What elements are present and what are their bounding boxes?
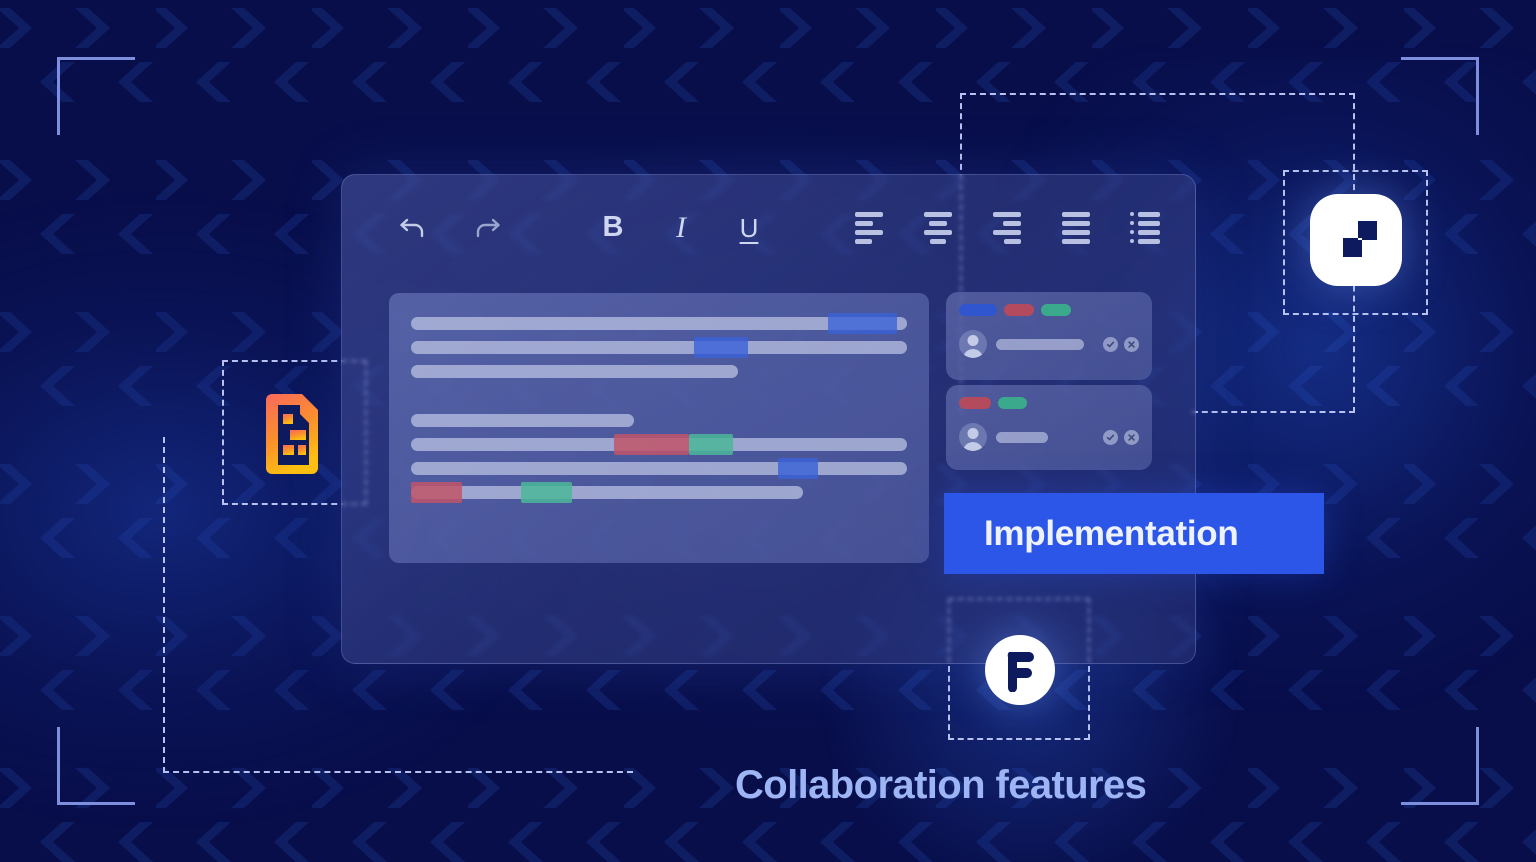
undo-icon[interactable] (390, 205, 436, 251)
toolbar-format-group: B I U (590, 205, 772, 251)
corner-bracket-bottom-left (57, 727, 135, 805)
text-highlight-green (521, 482, 572, 503)
italic-label: I (676, 213, 686, 243)
document-text-line (411, 341, 907, 354)
comment-tag-row (959, 397, 1139, 409)
document-page[interactable] (389, 293, 929, 563)
italic-icon[interactable]: I (658, 205, 704, 251)
document-text-line (411, 486, 803, 499)
comment-card[interactable] (946, 292, 1152, 380)
dismiss-comment-icon[interactable] (1124, 430, 1139, 445)
comment-tag-green (1041, 304, 1071, 316)
dismiss-comment-icon[interactable] (1124, 337, 1139, 352)
redo-icon[interactable] (464, 205, 510, 251)
underline-icon[interactable]: U (726, 205, 772, 251)
avatar (959, 330, 987, 358)
toolbar-align-group (846, 205, 1168, 251)
text-highlight-red (411, 482, 462, 503)
logo-circle-f (985, 635, 1055, 705)
align-left-icon[interactable] (846, 205, 892, 251)
document-text-line (411, 414, 634, 427)
comment-tag-red (1004, 304, 1034, 316)
document-text-line (411, 438, 907, 451)
align-right-icon[interactable] (984, 205, 1030, 251)
comment-text-placeholder (996, 432, 1048, 443)
corner-bracket-bottom-right (1401, 727, 1479, 805)
text-highlight-red (614, 434, 688, 455)
comment-text-placeholder (996, 339, 1084, 350)
comment-actions (1103, 337, 1139, 352)
status-badge: Implementation (944, 493, 1324, 574)
editor-toolbar: B I U (342, 175, 1195, 280)
avatar (959, 423, 987, 451)
document-text-line (411, 365, 738, 378)
comment-tag-row (959, 304, 1139, 316)
comment-card[interactable] (946, 385, 1152, 470)
text-highlight-blue (828, 313, 897, 334)
document-text-line (411, 317, 907, 330)
text-highlight-green (689, 434, 734, 455)
comment-tag-blue (959, 304, 997, 316)
comment-body (959, 423, 1139, 451)
toolbar-history-group (390, 205, 510, 251)
text-highlight-blue (778, 458, 818, 479)
comment-actions (1103, 430, 1139, 445)
bulleted-list-icon[interactable] (1122, 205, 1168, 251)
logo-square-mark (1310, 194, 1402, 286)
document-text-line (411, 462, 907, 475)
text-highlight-blue (694, 337, 749, 358)
page-title: Collaboration features (735, 763, 1146, 808)
logo-document (262, 392, 326, 476)
comment-tag-red (959, 397, 991, 409)
corner-bracket-top-right (1401, 57, 1479, 135)
comment-body (959, 330, 1139, 358)
guide-path-upper-right-foot (1192, 411, 1355, 413)
align-justify-icon[interactable] (1053, 205, 1099, 251)
align-center-icon[interactable] (915, 205, 961, 251)
comment-tag-green (998, 397, 1027, 409)
bold-icon[interactable]: B (590, 205, 636, 251)
document-paragraph-gap (411, 389, 907, 414)
resolve-comment-icon[interactable] (1103, 430, 1118, 445)
resolve-comment-icon[interactable] (1103, 337, 1118, 352)
implementation-label: Implementation (984, 514, 1238, 554)
corner-bracket-top-left (57, 57, 135, 135)
bold-label: B (603, 213, 624, 242)
underline-label: U (740, 215, 759, 241)
